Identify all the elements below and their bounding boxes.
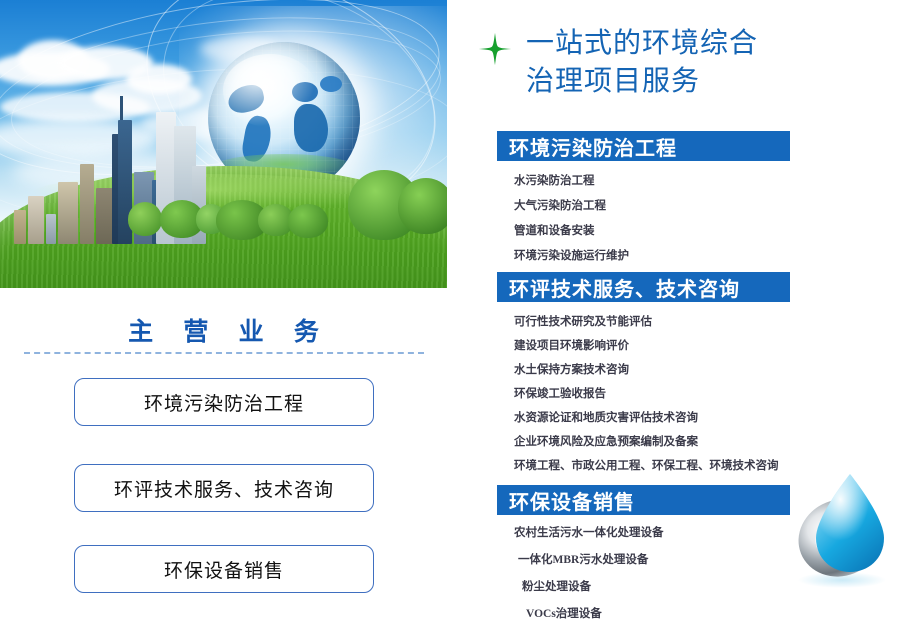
water-drop-logo — [788, 468, 896, 590]
list-item[interactable]: 农村生活污水一体化处理设备 — [497, 527, 790, 540]
section-equipment-sales: 环保设备销售 农村生活污水一体化处理设备 一体化MBR污水处理设备 粉尘处理设备… — [497, 485, 790, 635]
business-box-2[interactable]: 环评技术服务、技术咨询 — [74, 464, 374, 512]
list-item[interactable]: 粉尘处理设备 — [497, 581, 790, 594]
list-item[interactable]: 环保竣工验收报告 — [497, 388, 790, 401]
page-title-line-1: 一站式的环境综合 — [526, 24, 866, 62]
building-spire — [120, 96, 123, 120]
business-box-3[interactable]: 环保设备销售 — [74, 545, 374, 593]
four-point-sparkle-icon — [478, 32, 512, 66]
list-item[interactable]: VOCs治理设备 — [497, 608, 790, 621]
building — [58, 182, 78, 244]
section-heading: 环评技术服务、技术咨询 — [497, 272, 790, 302]
building — [46, 214, 56, 244]
page-title: 一站式的环境综合 治理项目服务 — [526, 24, 866, 100]
list-item[interactable]: 水污染防治工程 — [497, 175, 790, 188]
dashed-divider — [24, 352, 424, 354]
business-box-label: 环保设备销售 — [164, 556, 284, 583]
section-eia-technical-service: 环评技术服务、技术咨询 可行性技术研究及节能评估 建设项目环境影响评价 水土保持… — [497, 272, 790, 484]
list-item[interactable]: 企业环境风险及应急预案编制及备案 — [497, 436, 790, 449]
section-heading: 环保设备销售 — [497, 485, 790, 515]
section-item-list: 可行性技术研究及节能评估 建设项目环境影响评价 水土保持方案技术咨询 环保竣工验… — [497, 302, 790, 473]
tree — [398, 178, 447, 234]
tree — [288, 204, 328, 238]
list-item[interactable]: 一体化MBR污水处理设备 — [497, 554, 790, 567]
list-item[interactable]: 水资源论证和地质灾害评估技术咨询 — [497, 412, 790, 425]
section-environmental-pollution: 环境污染防治工程 水污染防治工程 大气污染防治工程 管道和设备安装 环境污染设施… — [497, 131, 790, 275]
building — [14, 210, 26, 244]
hero-image — [0, 0, 447, 288]
list-item[interactable]: 建设项目环境影响评价 — [497, 340, 790, 353]
business-box-1[interactable]: 环境污染防治工程 — [74, 378, 374, 426]
section-heading: 环境污染防治工程 — [497, 131, 790, 161]
main-business-title: 主 营 业 务 — [0, 312, 447, 348]
building — [28, 196, 44, 244]
list-item[interactable]: 环境工程、市政公用工程、环保工程、环境技术咨询 — [497, 460, 790, 473]
list-item[interactable]: 水土保持方案技术咨询 — [497, 364, 790, 377]
poster-page: 主 营 业 务 环境污染防治工程 环评技术服务、技术咨询 环保设备销售 一站式的… — [0, 0, 900, 639]
list-item[interactable]: 可行性技术研究及节能评估 — [497, 316, 790, 329]
water-drop-highlight — [816, 474, 884, 572]
page-title-line-2: 治理项目服务 — [526, 62, 866, 100]
list-item[interactable]: 环境污染设施运行维护 — [497, 250, 790, 263]
business-box-label: 环境污染防治工程 — [144, 389, 304, 416]
tree — [128, 202, 162, 236]
list-item[interactable]: 管道和设备安装 — [497, 225, 790, 238]
section-item-list: 农村生活污水一体化处理设备 一体化MBR污水处理设备 粉尘处理设备 VOCs治理… — [497, 515, 790, 621]
building — [80, 164, 94, 244]
section-item-list: 水污染防治工程 大气污染防治工程 管道和设备安装 环境污染设施运行维护 — [497, 161, 790, 263]
list-item[interactable]: 大气污染防治工程 — [497, 200, 790, 213]
business-box-label: 环评技术服务、技术咨询 — [114, 475, 334, 502]
